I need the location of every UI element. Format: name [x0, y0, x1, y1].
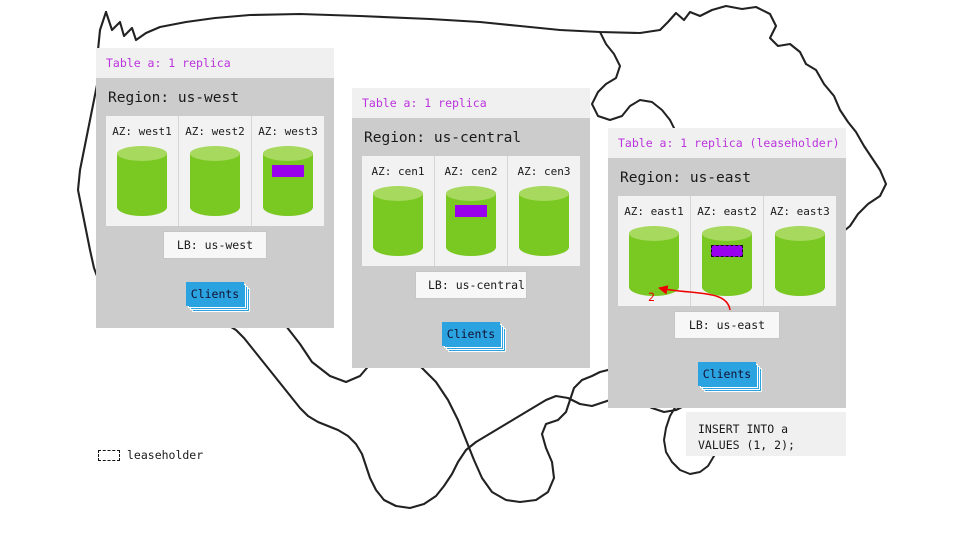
cylinder-top	[373, 186, 423, 201]
region-title: Region: us-west	[96, 78, 334, 116]
az-cell-east3[interactable]: AZ: east3	[763, 196, 836, 306]
leaseholder-swatch-icon	[98, 450, 120, 461]
cylinder-top	[775, 226, 825, 241]
sql-statement-note: INSERT INTO a VALUES (1, 2);	[686, 412, 846, 456]
clients-label: Clients	[698, 362, 756, 386]
cylinder-body	[629, 233, 679, 296]
load-balancer-us-central[interactable]: LB: us-central	[415, 271, 527, 299]
clients-button-us-west[interactable]: Clients	[186, 282, 244, 306]
cylinder-body	[190, 153, 240, 216]
replica-cylinder-cen3[interactable]	[508, 186, 580, 272]
cylinder-top	[190, 146, 240, 161]
cylinder-body	[263, 153, 313, 216]
cylinder-body	[775, 233, 825, 296]
az-label: AZ: cen3	[508, 165, 580, 178]
clients-label: Clients	[186, 282, 244, 306]
az-cell-cen1[interactable]: AZ: cen1	[362, 156, 434, 266]
clients-button-us-central[interactable]: Clients	[442, 322, 500, 346]
legend: leaseholder	[98, 448, 203, 462]
arrow-step-number: 2	[648, 290, 655, 304]
region-header-label: Table a: 1 replica	[352, 88, 590, 118]
cylinder-top	[117, 146, 167, 161]
az-label: AZ: cen2	[435, 165, 507, 178]
replica-cylinder-east3[interactable]	[764, 226, 836, 312]
cylinder-body	[446, 193, 496, 256]
az-label: AZ: east3	[764, 205, 836, 218]
load-balancer-us-east[interactable]: LB: us-east	[674, 311, 780, 339]
az-cell-cen3[interactable]: AZ: cen3	[507, 156, 580, 266]
az-cell-west3[interactable]: AZ: west3	[251, 116, 324, 226]
az-label: AZ: west2	[179, 125, 251, 138]
region-header-label: Table a: 1 replica	[96, 48, 334, 78]
az-label: AZ: west3	[252, 125, 324, 138]
clients-button-us-east[interactable]: Clients	[698, 362, 756, 386]
az-strip: AZ: west1 AZ: west2 AZ:	[106, 116, 324, 226]
az-label: AZ: east2	[691, 205, 763, 218]
cylinder-body	[519, 193, 569, 256]
az-label: AZ: west1	[106, 125, 178, 138]
cylinder-body	[373, 193, 423, 256]
az-cell-west1[interactable]: AZ: west1	[106, 116, 178, 226]
az-cell-cen2[interactable]: AZ: cen2	[434, 156, 507, 266]
replica-marker-cen2	[455, 205, 487, 217]
legend-label: leaseholder	[127, 448, 203, 462]
leaseholder-marker-east2	[711, 245, 743, 257]
replica-cylinder-east2[interactable]	[691, 226, 763, 312]
replica-cylinder-west1[interactable]	[106, 146, 178, 232]
diagram-canvas: Table a: 1 replica Region: us-west AZ: w…	[0, 0, 960, 540]
cylinder-top	[446, 186, 496, 201]
replica-cylinder-cen1[interactable]	[362, 186, 434, 272]
replica-marker-west3	[272, 165, 304, 177]
region-title: Region: us-east	[608, 158, 846, 196]
region-header-label: Table a: 1 replica (leaseholder)	[608, 128, 846, 158]
load-balancer-us-west[interactable]: LB: us-west	[163, 231, 267, 259]
replica-cylinder-west2[interactable]	[179, 146, 251, 232]
cylinder-top	[629, 226, 679, 241]
cylinder-body	[117, 153, 167, 216]
az-cell-east2[interactable]: AZ: east2	[690, 196, 763, 306]
replica-cylinder-cen2[interactable]	[435, 186, 507, 272]
replica-cylinder-west3[interactable]	[252, 146, 324, 232]
cylinder-top	[263, 146, 313, 161]
az-cell-west2[interactable]: AZ: west2	[178, 116, 251, 226]
cylinder-top	[702, 226, 752, 241]
az-strip: AZ: cen1 AZ: cen2	[362, 156, 580, 266]
cylinder-body	[702, 233, 752, 296]
region-title: Region: us-central	[352, 118, 590, 156]
az-label: AZ: cen1	[362, 165, 434, 178]
clients-label: Clients	[442, 322, 500, 346]
az-label: AZ: east1	[618, 205, 690, 218]
cylinder-top	[519, 186, 569, 201]
